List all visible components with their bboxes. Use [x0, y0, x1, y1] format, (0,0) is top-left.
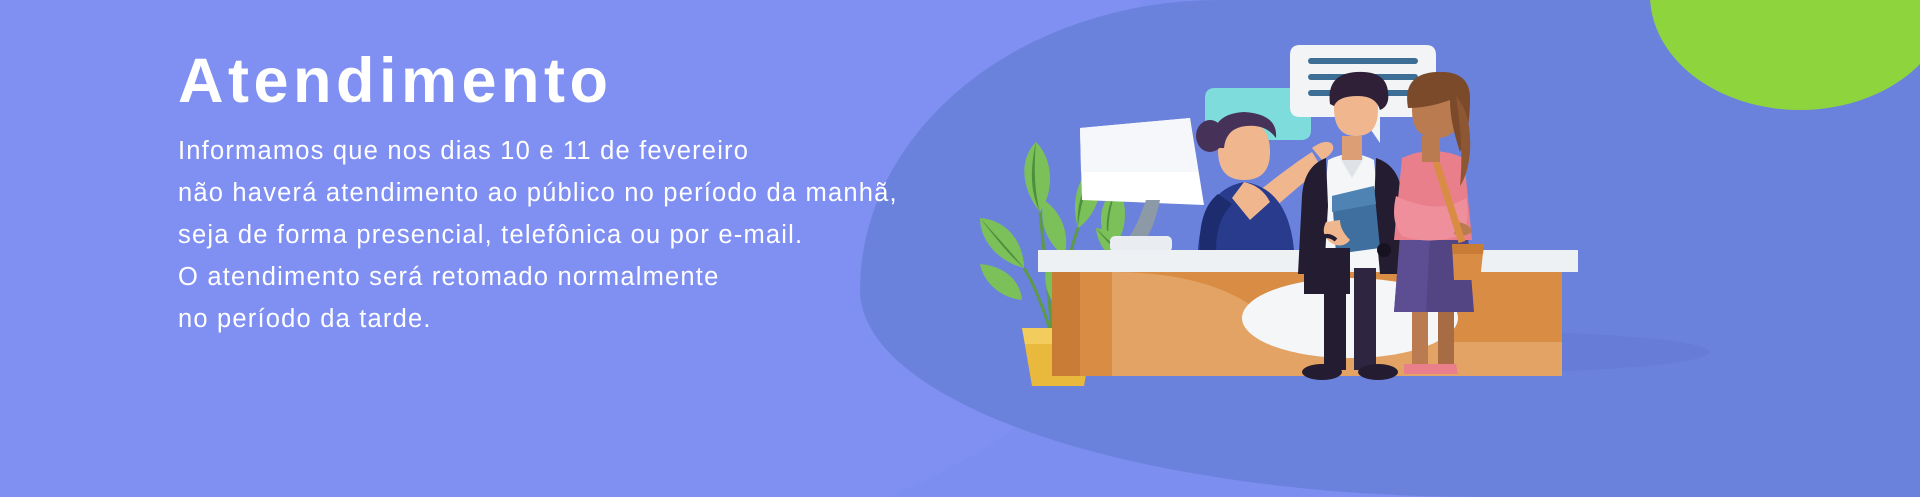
body-line-5: no período da tarde.: [178, 298, 998, 340]
banner-text-block: Atendimento Informamos que nos dias 10 e…: [178, 48, 998, 340]
woman-heel-left: [1404, 364, 1432, 374]
bubble-text-line-1: [1308, 58, 1418, 64]
monitor-base: [1110, 236, 1172, 252]
man-shoe-left: [1302, 364, 1342, 380]
body-line-3: seja de forma presencial, telefônica ou …: [178, 214, 998, 256]
woman-heel-right: [1430, 364, 1458, 374]
body-line-1: Informamos que nos dias 10 e 11 de fever…: [178, 130, 998, 172]
banner-root: Atendimento Informamos que nos dias 10 e…: [0, 0, 1920, 497]
reception-illustration: [960, 0, 1920, 497]
man-leg-right: [1354, 260, 1376, 370]
woman-neck: [1422, 136, 1440, 162]
man-neck: [1342, 136, 1362, 160]
man-shoe-right: [1358, 364, 1398, 380]
body-line-2: não haverá atendimento ao público no per…: [178, 172, 998, 214]
page-title: Atendimento: [178, 48, 998, 114]
body-line-4: O atendimento será retomado normalmente: [178, 256, 998, 298]
plant-leaf: [1042, 200, 1066, 256]
briefcase: [1304, 248, 1350, 294]
man-watch: [1377, 243, 1391, 257]
